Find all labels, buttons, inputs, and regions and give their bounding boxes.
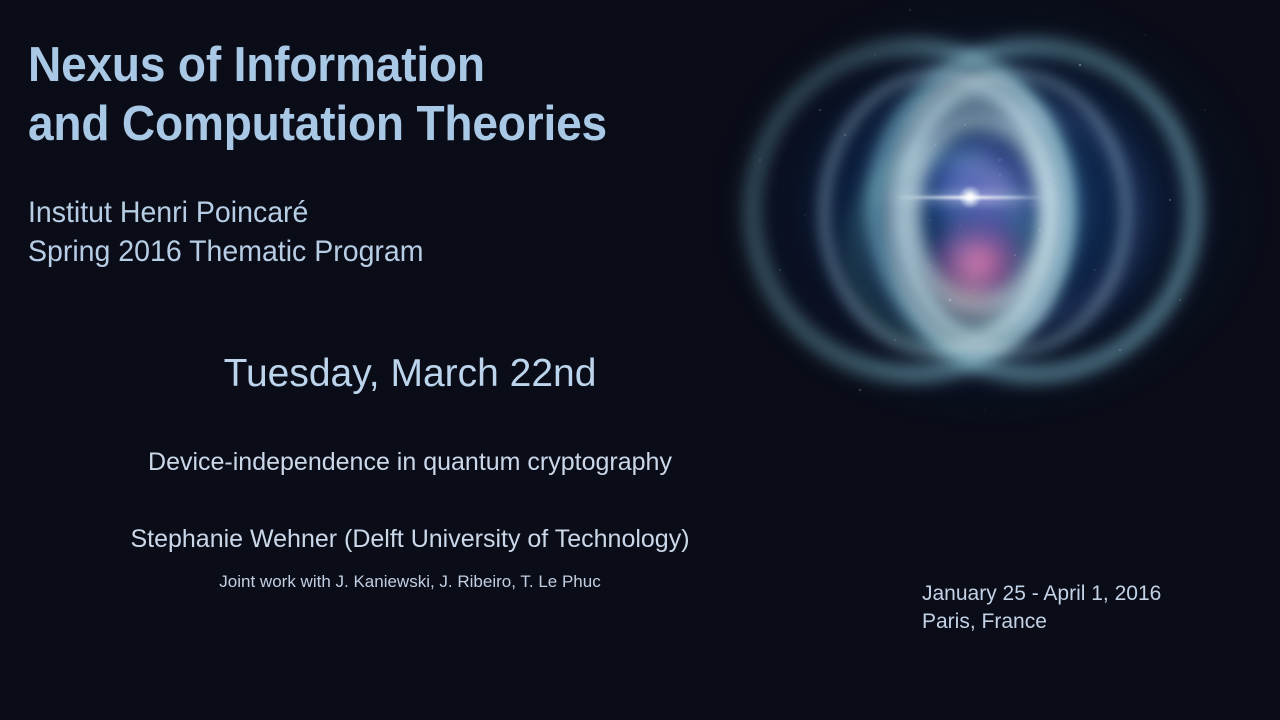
speaker-name-affiliation: Stephanie Wehner (Delft University of Te… <box>0 525 820 554</box>
program-footer: January 25 - April 1, 2016 Paris, France <box>922 580 1262 637</box>
nebula-artwork <box>700 0 1280 490</box>
nebula-arc-green <box>850 150 1030 350</box>
conference-announcement-slide: Nexus of Information and Computation The… <box>0 0 1280 720</box>
nebula-core-shell <box>892 90 1068 335</box>
nebula-core-speckle <box>905 105 1055 320</box>
starfield-layer-2 <box>700 0 1280 490</box>
nebula-ring-left <box>745 40 1075 380</box>
starfield-layer-1 <box>700 0 1280 490</box>
nebula-ring-mid-right <box>895 70 1130 355</box>
nebula-core <box>905 105 1055 320</box>
venue-program: Spring 2016 Thematic Program <box>28 232 693 271</box>
program-title-line-2: and Computation Theories <box>28 95 686 154</box>
joint-work-credits: Joint work with J. Kaniewski, J. Ribeiro… <box>0 572 820 592</box>
nebula-ring-right <box>870 40 1200 380</box>
star-flare-glow <box>875 191 1065 204</box>
nebula-arc-violet <box>950 110 1140 320</box>
footer-program-dates: January 25 - April 1, 2016 <box>922 580 1262 608</box>
program-title-line-1: Nexus of Information <box>28 36 686 95</box>
nebula-ring-core <box>895 82 1060 344</box>
venue-institute: Institut Henri Poincaré <box>28 193 693 232</box>
space-haze <box>700 0 1280 490</box>
nebula-ring-mid-left <box>820 70 1055 355</box>
program-title: Nexus of Information and Computation The… <box>28 36 728 154</box>
central-star-icon <box>960 187 980 207</box>
footer-location: Paris, France <box>922 608 1262 636</box>
star-flare-streak <box>895 196 1045 199</box>
nebula-ring-core-highlight <box>886 74 1071 354</box>
session-date: Tuesday, March 22nd <box>0 352 820 396</box>
talk-title: Device-independence in quantum cryptogra… <box>0 448 820 477</box>
venue-block: Institut Henri Poincaré Spring 2016 Them… <box>28 193 728 271</box>
